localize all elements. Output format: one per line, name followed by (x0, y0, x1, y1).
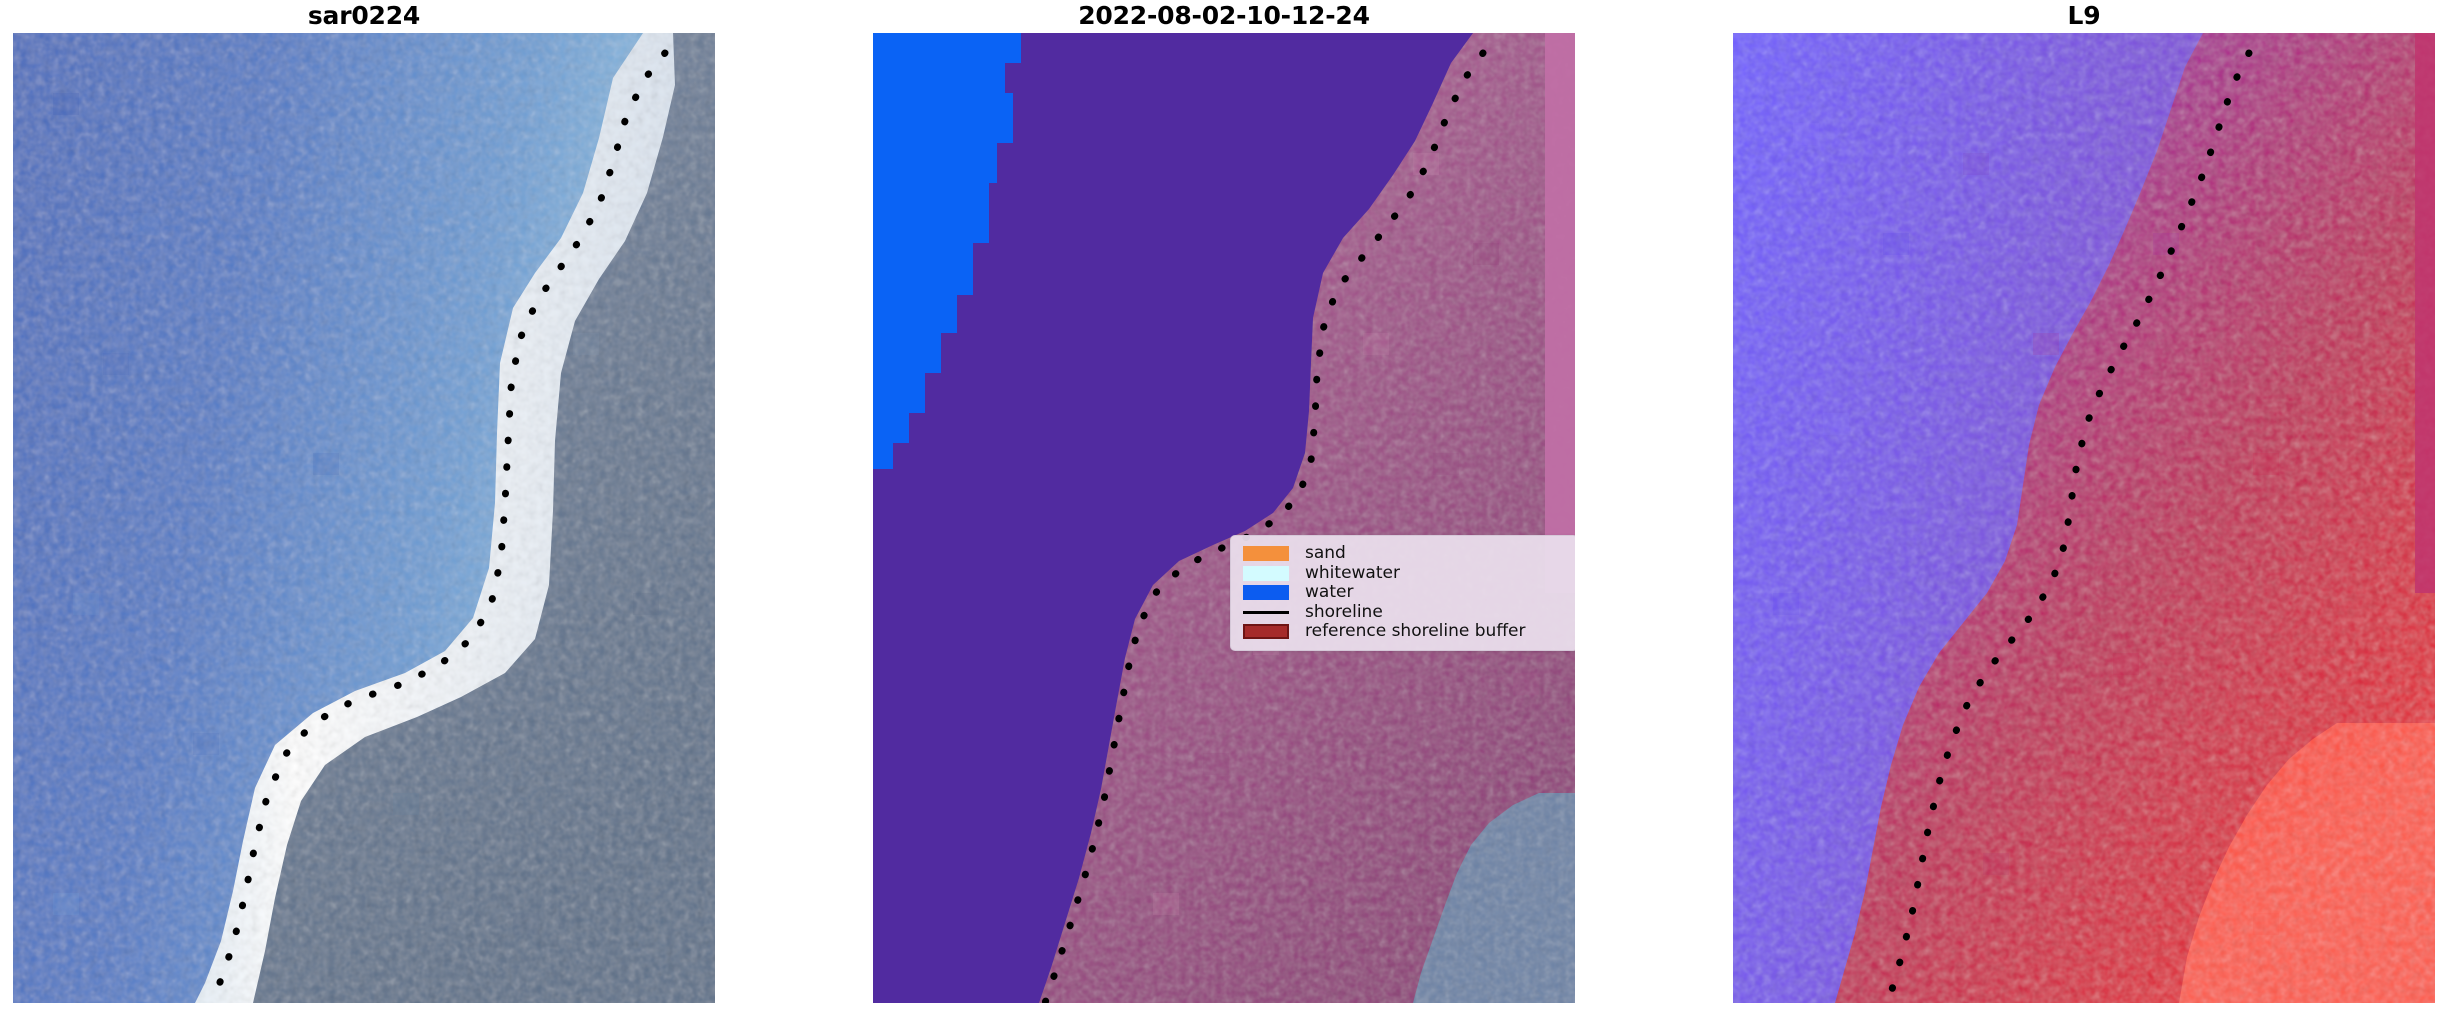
shoreline-line-swatch (1243, 611, 1289, 614)
legend-label-water: water (1301, 583, 1353, 603)
sand-swatch-wrap (1243, 546, 1301, 561)
legend-label-whitewater: whitewater (1301, 564, 1400, 584)
panel-l9-title: L9 (1733, 0, 2435, 32)
legend-item-water[interactable]: water (1243, 583, 1567, 603)
figure-canvas: sar0224 (0, 0, 2460, 1016)
water-swatch-wrap (1243, 585, 1301, 600)
legend-item-reference-buffer[interactable]: reference shoreline buffer (1243, 622, 1567, 642)
panel-rgb-title: sar0224 (13, 0, 715, 32)
whitewater-swatch (1243, 566, 1289, 581)
reference-buffer-swatch-wrap (1243, 624, 1301, 639)
panel-classified-image[interactable] (873, 33, 1575, 1003)
legend-item-sand[interactable]: sand (1243, 544, 1567, 564)
whitewater-swatch-wrap (1243, 566, 1301, 581)
rgb-raster (13, 33, 715, 1003)
legend-label-shoreline: shoreline (1301, 603, 1383, 623)
l9-raster (1733, 33, 2435, 1003)
water-swatch (1243, 585, 1289, 600)
legend-label-reference-buffer: reference shoreline buffer (1301, 622, 1526, 642)
panel-l9-image[interactable] (1733, 33, 2435, 1003)
legend-box[interactable]: sand whitewater water shoreline (1230, 535, 1575, 651)
panel-classified: 2022-08-02-10-12-24 (873, 0, 1575, 1003)
legend-item-whitewater[interactable]: whitewater (1243, 564, 1567, 584)
sand-swatch (1243, 546, 1289, 561)
panel-l9: L9 (1733, 0, 2435, 1003)
panel-rgb-image[interactable] (13, 33, 715, 1003)
legend-label-sand: sand (1301, 544, 1346, 564)
panel-classified-title: 2022-08-02-10-12-24 (873, 0, 1575, 32)
shoreline-swatch-wrap (1243, 611, 1301, 614)
legend-item-shoreline[interactable]: shoreline (1243, 603, 1567, 623)
classification-raster (873, 33, 1575, 1003)
panel-rgb: sar0224 (13, 0, 715, 1003)
reference-buffer-swatch (1243, 624, 1289, 639)
